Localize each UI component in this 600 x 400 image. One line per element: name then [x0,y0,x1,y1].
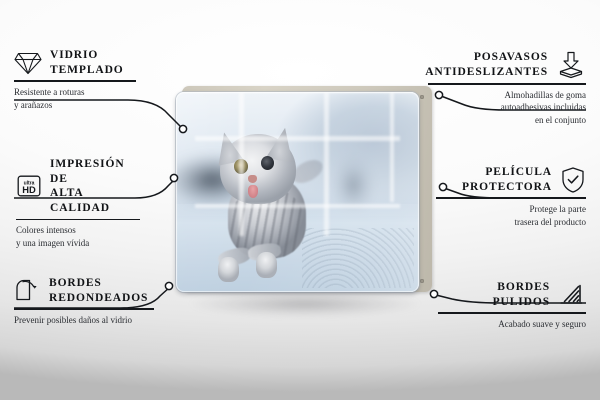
callout-subtitle: Protege la parte trasera del producto [436,203,586,229]
kitten-tongue [248,185,258,198]
callout-header: POSAVASOS ANTIDESLIZANTES [428,50,586,80]
kitten-nose [248,175,257,183]
callout-subtitle: Acabado suave y seguro [438,318,586,331]
infographic-canvas: VIDRIO TEMPLADO Resistente a roturas y a… [0,0,600,400]
callout-title: BORDES PULIDOS [493,280,550,309]
rounded-corner-icon [14,278,41,304]
ultra-hd-icon: ultra HD [16,173,42,199]
kitten-illustration [210,124,336,284]
callout-header: BORDES REDONDEADOS [14,276,154,305]
callout-rule [438,312,586,314]
callout-subtitle: Colores intensos y una imagen vívida [16,224,140,250]
connector-dot-bordes-redondeados [165,282,172,289]
arrow-into-pad-icon [556,50,586,80]
shield-check-icon [560,166,586,194]
kitten-paw-left [218,257,239,283]
kitten-paw-right [256,252,277,278]
backing-hole-bottom [420,279,424,283]
callout-header: VIDRIO TEMPLADO [14,48,136,77]
svg-text:HD: HD [22,185,36,196]
hatched-triangle-icon [558,282,586,308]
callout-header: BORDES PULIDOS [438,280,586,309]
callout-rule [436,197,586,199]
kitten-eye-left [234,159,248,173]
callout-rule [16,219,140,221]
callout-title: VIDRIO TEMPLADO [50,48,124,77]
callout-vidrio-templado: VIDRIO TEMPLADO Resistente a roturas y a… [14,48,136,112]
callout-header: PELÍCULA PROTECTORA [436,165,586,194]
callout-title: PELÍCULA PROTECTORA [462,165,552,194]
diamond-icon [14,50,42,76]
connector-dot-bordes-pulidos [430,290,437,297]
callout-rule [14,80,136,82]
callout-header: ultra HD IMPRESIÓN DE ALTA CALIDAD [16,157,140,216]
callout-bordes-redondeados: BORDES REDONDEADOS Prevenir posibles dañ… [14,276,154,327]
callout-title: BORDES REDONDEADOS [49,276,148,305]
callout-title: IMPRESIÓN DE ALTA CALIDAD [50,157,140,216]
callout-rule [14,308,154,310]
callout-rule [428,83,586,85]
callout-bordes-pulidos: BORDES PULIDOS Acabado suave y seguro [438,280,586,331]
product-board [176,92,428,300]
callout-impresion-alta-calidad: ultra HD IMPRESIÓN DE ALTA CALIDAD Color… [16,157,140,250]
glass-panel-with-print [176,92,419,292]
callout-subtitle: Resistente a roturas y arañazos [14,86,136,112]
backing-hole-top [420,95,424,99]
callout-posavasos-antideslizantes: POSAVASOS ANTIDESLIZANTES Almohadillas d… [428,50,586,127]
callout-pelicula-protectora: PELÍCULA PROTECTORA Protege la parte tra… [436,165,586,229]
callout-title: POSAVASOS ANTIDESLIZANTES [425,50,548,79]
callout-subtitle: Almohadillas de goma autoadhesivas inclu… [428,89,586,127]
callout-subtitle: Prevenir posibles daños al vidrio [14,314,154,327]
